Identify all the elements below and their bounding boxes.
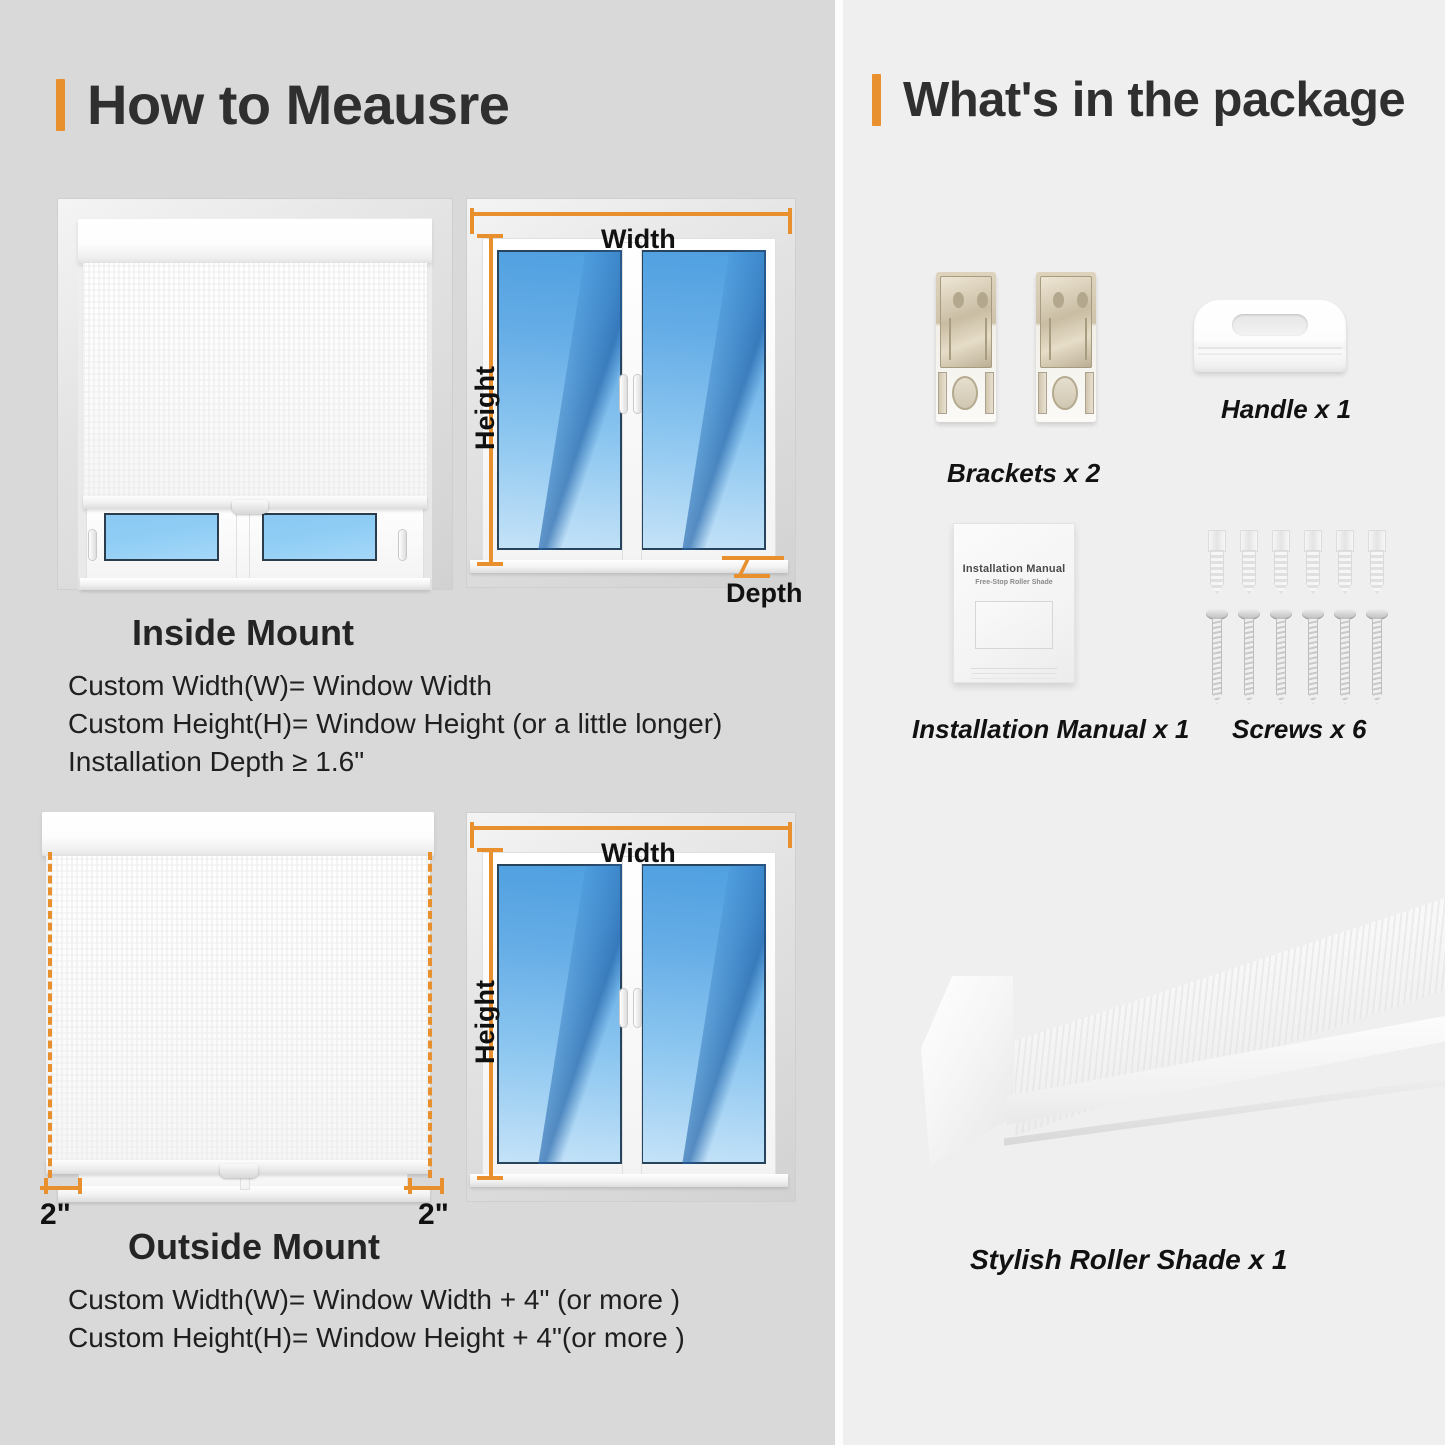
left-panel-heading: How to Meausre	[56, 72, 509, 137]
left-heading-text: How to Meausre	[87, 72, 509, 137]
label-height-outside: Height	[470, 980, 501, 1064]
accent-bar-icon	[56, 79, 65, 131]
height-marker-top-cap	[477, 234, 503, 238]
height-marker-bottom-cap	[477, 562, 503, 566]
wall-anchor-icon-5	[1336, 530, 1354, 594]
inside-mount-line-1: Custom Width(W)= Window Width	[68, 668, 722, 704]
outside-mount-line-2: Custom Height(H)= Window Height + 4"(or …	[68, 1320, 685, 1356]
overhang-left-label: 2"	[40, 1198, 71, 1232]
outside-mount-lines: Custom Width(W)= Window Width + 4" (or m…	[68, 1282, 685, 1358]
handle-label: Handle x 1	[1221, 394, 1351, 425]
outside-mount-title: Outside Mount	[128, 1226, 380, 1268]
manual-cover-title: Installation Manual	[953, 563, 1075, 575]
width-marker-top	[470, 212, 792, 216]
overhang-right-label: 2"	[418, 1198, 449, 1232]
outside-mount-line-1: Custom Width(W)= Window Width + 4" (or m…	[68, 1282, 685, 1318]
screw-icon-4	[1305, 608, 1321, 704]
width-marker-right-cap	[788, 208, 792, 234]
manual-icon: Installation Manual Free-Stop Roller Sha…	[953, 523, 1075, 683]
wall-anchor-icon-6	[1368, 530, 1386, 594]
wall-anchor-icon-3	[1272, 530, 1290, 594]
manual-label: Installation Manual x 1	[912, 714, 1189, 745]
depth-marker-bar	[722, 556, 784, 560]
overhang-guide-right	[428, 852, 432, 1178]
outside-valance	[42, 812, 434, 856]
package-contents-panel: What's in the package Brackets x 2 Handl…	[843, 0, 1445, 1445]
inside-mount-line-2: Custom Height(H)= Window Height (or a li…	[68, 706, 722, 742]
width-marker-left-cap	[470, 208, 474, 234]
roller-shade-end-cap	[921, 976, 1013, 1166]
wall-anchor-icon-1	[1208, 530, 1226, 594]
manual-cover-subtitle: Free-Stop Roller Shade	[953, 579, 1075, 586]
label-width-outside: Width	[601, 838, 676, 869]
right-panel-heading: What's in the package	[872, 72, 1405, 128]
bracket-icon-1	[936, 272, 996, 422]
wall-anchor-icon-2	[1240, 530, 1258, 594]
label-width-inside: Width	[601, 224, 676, 255]
screw-icon-5	[1337, 608, 1353, 704]
inside-mount-title: Inside Mount	[132, 612, 354, 654]
bracket-icon-2	[1036, 272, 1096, 422]
accent-bar-icon-2	[872, 74, 881, 126]
screw-icon-1	[1209, 608, 1225, 704]
how-to-measure-panel: How to Meausre	[0, 0, 835, 1445]
screw-icon-6	[1369, 608, 1385, 704]
inside-mount-lines: Custom Width(W)= Window Width Custom Hei…	[68, 668, 722, 782]
screw-icon-2	[1241, 608, 1257, 704]
screws-label: Screws x 6	[1232, 714, 1366, 745]
overhang-guide-left	[48, 852, 52, 1178]
label-depth-inside: Depth	[726, 578, 803, 609]
handle-icon	[1194, 300, 1346, 372]
right-heading-text: What's in the package	[903, 72, 1405, 128]
inside-mount-line-3: Installation Depth ≥ 1.6"	[68, 744, 722, 780]
roller-shade-label: Stylish Roller Shade x 1	[970, 1244, 1287, 1276]
outside-fabric	[46, 856, 430, 1166]
brackets-label: Brackets x 2	[947, 458, 1100, 489]
panel-divider	[835, 0, 843, 1445]
label-height-inside: Height	[470, 366, 501, 450]
screw-icon-3	[1273, 608, 1289, 704]
wall-anchor-icon-4	[1304, 530, 1322, 594]
infographic-page: How to Meausre	[0, 0, 1445, 1445]
